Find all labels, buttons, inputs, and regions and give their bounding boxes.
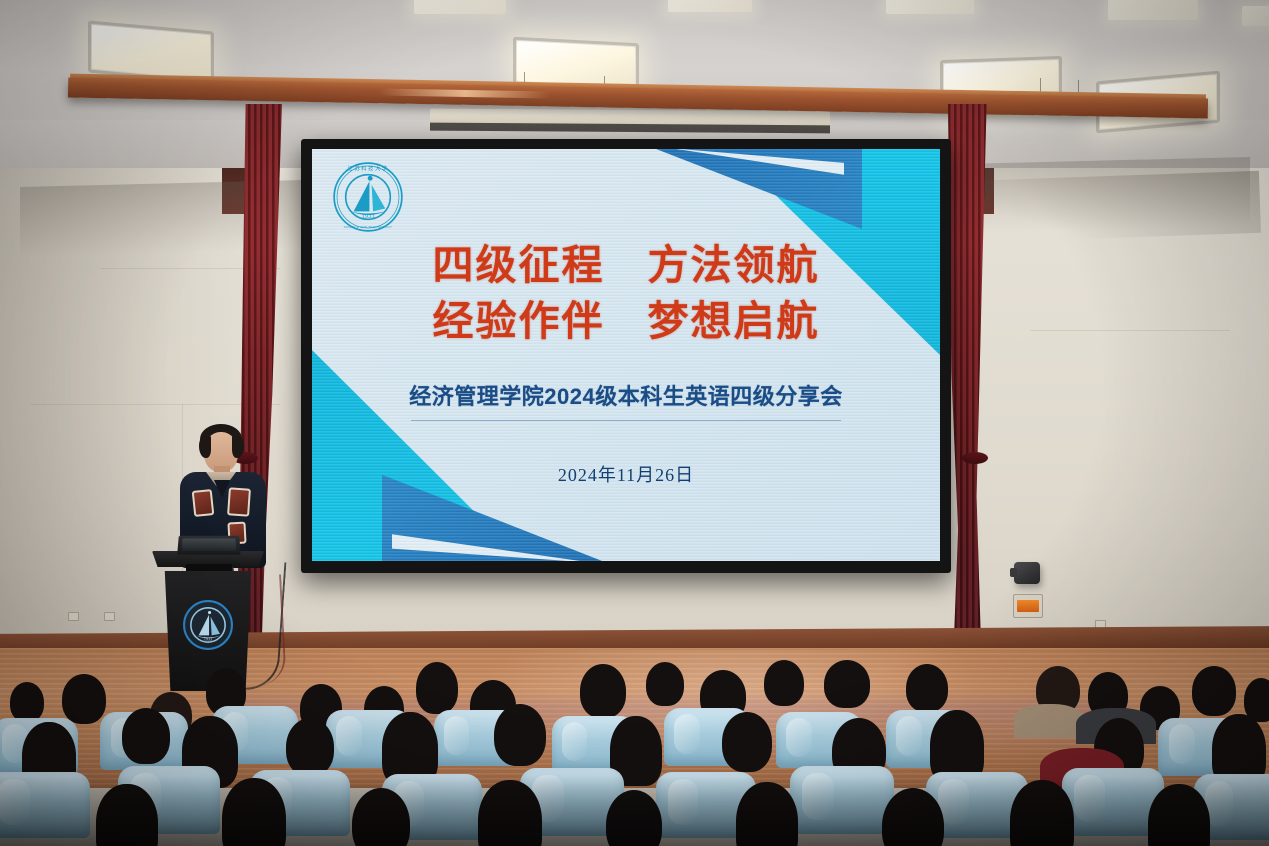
slide-subtitle: 经济管理学院2024级本科生英语四级分享会	[409, 379, 842, 411]
audience-member	[416, 662, 458, 714]
ceiling-light-panel	[414, 0, 506, 14]
slide-date: 2024年11月26日	[558, 461, 694, 487]
wall-outlet[interactable]	[68, 612, 79, 621]
audience-member	[722, 712, 772, 772]
ceiling-light-panel	[886, 0, 974, 14]
auditorium-photo: 1933 江苏科技大学 SCIENCE AND TECHNOLOGY 四级征程 …	[0, 0, 1269, 846]
audience-member	[10, 682, 44, 722]
svg-text:1933: 1933	[204, 637, 212, 642]
audience-member	[764, 660, 804, 706]
ceiling-light-panel	[92, 25, 210, 79]
audience-member	[494, 704, 546, 766]
wall-outlet[interactable]	[104, 612, 115, 621]
beam-cast-shadow	[959, 171, 1261, 243]
wall-speaker-icon	[1014, 562, 1040, 584]
audience-member	[906, 664, 948, 712]
slide-divider	[411, 420, 841, 421]
audience-member-shoulders	[1014, 704, 1084, 738]
audience-member	[286, 718, 334, 776]
presenter-hair	[199, 436, 211, 458]
ceiling-light-panel	[1108, 0, 1198, 20]
audience-member	[646, 662, 684, 706]
audience-member	[824, 660, 870, 708]
ceiling-light-panel	[517, 41, 635, 87]
presentation-screen[interactable]: 1933 江苏科技大学 SCIENCE AND TECHNOLOGY 四级征程 …	[301, 139, 951, 573]
slide-canvas: 1933 江苏科技大学 SCIENCE AND TECHNOLOGY 四级征程 …	[312, 149, 940, 561]
audience-member	[122, 708, 170, 764]
presenter-hair	[232, 436, 244, 458]
jacket-patch	[227, 487, 251, 516]
audience-foreground-shadow	[0, 776, 1269, 846]
ceiling-light-panel	[668, 0, 752, 12]
slide-title-line-1: 四级征程 方法领航	[433, 237, 820, 293]
laptop[interactable]	[177, 536, 241, 555]
wall-seam	[1030, 330, 1230, 331]
curtain-tieback	[962, 452, 988, 464]
ceiling-light-panel	[1242, 6, 1269, 26]
audience-member	[580, 664, 626, 718]
slide-title-line-2: 经验作伴 梦想启航	[433, 293, 820, 349]
audience-seating	[0, 660, 1269, 846]
audience-member	[62, 674, 106, 724]
jacket-patch	[192, 489, 215, 517]
audience-member	[1192, 666, 1236, 716]
fire-alarm-panel[interactable]	[1013, 594, 1043, 618]
lectern-university-seal: 1933	[182, 599, 234, 651]
